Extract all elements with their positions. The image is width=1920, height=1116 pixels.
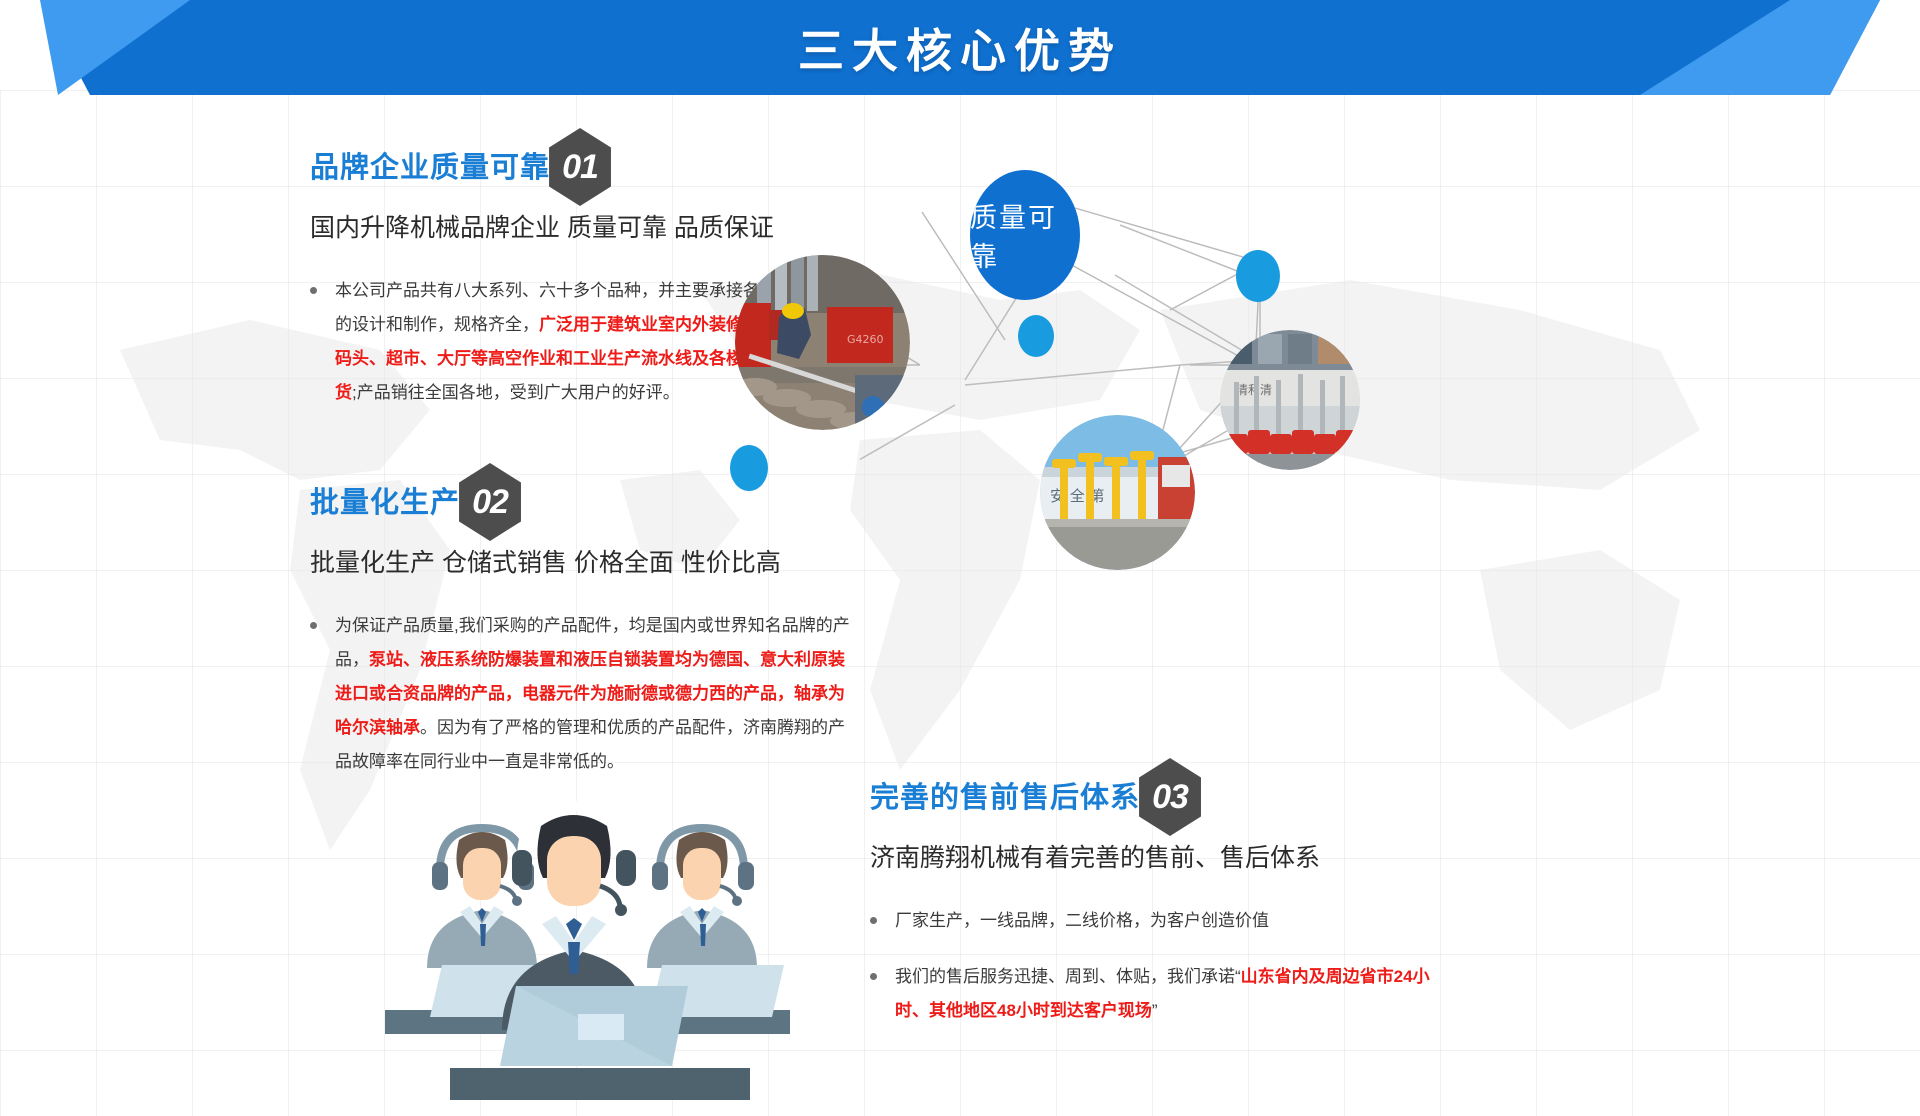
feature-01-title: 品牌企业质量可靠: [310, 150, 550, 186]
factory-worker-photo: G4260: [735, 255, 910, 430]
feature-block-02: 批量化生产 02 批量化生产 仓储式销售 价格全面 性价比高 为保证产品质量,我…: [310, 485, 850, 801]
body-text: ;产品销往全国各地，受到广大用户的好评。: [352, 383, 680, 402]
svg-text:安 全 第: 安 全 第: [1050, 487, 1105, 505]
feature-03-bullet-text-1: 厂家生产，一线品牌，二线价格，为客户创造价值: [895, 904, 1269, 938]
feature-02-heading: 批量化生产 02: [310, 485, 850, 541]
feature-02-bullet-text: 为保证产品质量,我们采购的产品配件，均是国内或世界知名品牌的产品，泵站、液压系统…: [335, 609, 850, 779]
feature-03-heading: 完善的售前售后体系 03: [870, 780, 1430, 836]
diagram-dot-left-bottom: [730, 445, 768, 491]
diagram-center-node: 质量可靠: [970, 170, 1080, 300]
page-header-banner: 三大核心优势: [0, 0, 1920, 95]
list-item: 厂家生产，一线品牌，二线价格，为客户创造价值: [870, 904, 1430, 938]
feature-03-bullet-text-2: 我们的售后服务迅捷、周到、体贴，我们承诺“山东省内及周边省市24小时、其他地区4…: [895, 960, 1430, 1028]
body-text: ”: [1152, 1001, 1158, 1020]
diagram-dot-center: [1018, 315, 1054, 357]
svg-text:G4260: G4260: [847, 333, 884, 346]
feature-01-number: 01: [544, 128, 616, 206]
body-text: 我们的售后服务迅捷、周到、体贴，我们承诺“: [895, 967, 1241, 986]
feature-01-number-badge: 01: [544, 128, 616, 206]
feature-02-bullets: 为保证产品质量,我们采购的产品配件，均是国内或世界知名品牌的产品，泵站、液压系统…: [310, 609, 850, 779]
feature-02-number: 02: [454, 463, 526, 541]
feature-02-number-badge: 02: [454, 463, 526, 541]
diagram-dot-top-right: [1236, 250, 1280, 302]
feature-01-subtitle: 国内升降机械品牌企业 质量可靠 品质保证: [310, 208, 850, 248]
feature-03-number-badge: 03: [1134, 758, 1206, 836]
feature-03-number: 03: [1134, 758, 1206, 836]
body-text: 厂家生产，一线品牌，二线价格，为客户创造价值: [895, 911, 1269, 930]
feature-02-title: 批量化生产: [310, 485, 460, 521]
feature-03-subtitle: 济南腾翔机械有着完善的售前、售后体系: [870, 838, 1430, 878]
feature-03-bullets: 厂家生产，一线品牌，二线价格，为客户创造价值 我们的售后服务迅捷、周到、体贴，我…: [870, 904, 1430, 1028]
feature-block-03: 完善的售前售后体系 03 济南腾翔机械有着完善的售前、售后体系 厂家生产，一线品…: [870, 780, 1430, 1050]
bullet-dot-icon: [310, 622, 317, 629]
diagram-center-label: 质量可靠: [970, 196, 1080, 274]
call-center-illustration: [330, 800, 790, 1116]
lift-products-photo: 清和清: [1220, 330, 1360, 470]
list-item: 为保证产品质量,我们采购的产品配件，均是国内或世界知名品牌的产品，泵站、液压系统…: [310, 609, 850, 779]
feature-02-subtitle: 批量化生产 仓储式销售 价格全面 性价比高: [310, 543, 850, 583]
network-diagram: 质量可靠 G4260: [860, 150, 1900, 650]
bullet-dot-icon: [870, 917, 877, 924]
feature-01-heading: 品牌企业质量可靠 01: [310, 150, 850, 206]
page-title: 三大核心优势: [0, 0, 1920, 95]
feature-03-title: 完善的售前售后体系: [870, 780, 1140, 816]
list-item: 我们的售后服务迅捷、周到、体贴，我们承诺“山东省内及周边省市24小时、其他地区4…: [870, 960, 1430, 1028]
bullet-dot-icon: [310, 287, 317, 294]
yard-equipment-photo: 安 全 第: [1040, 415, 1195, 570]
bullet-dot-icon: [870, 973, 877, 980]
